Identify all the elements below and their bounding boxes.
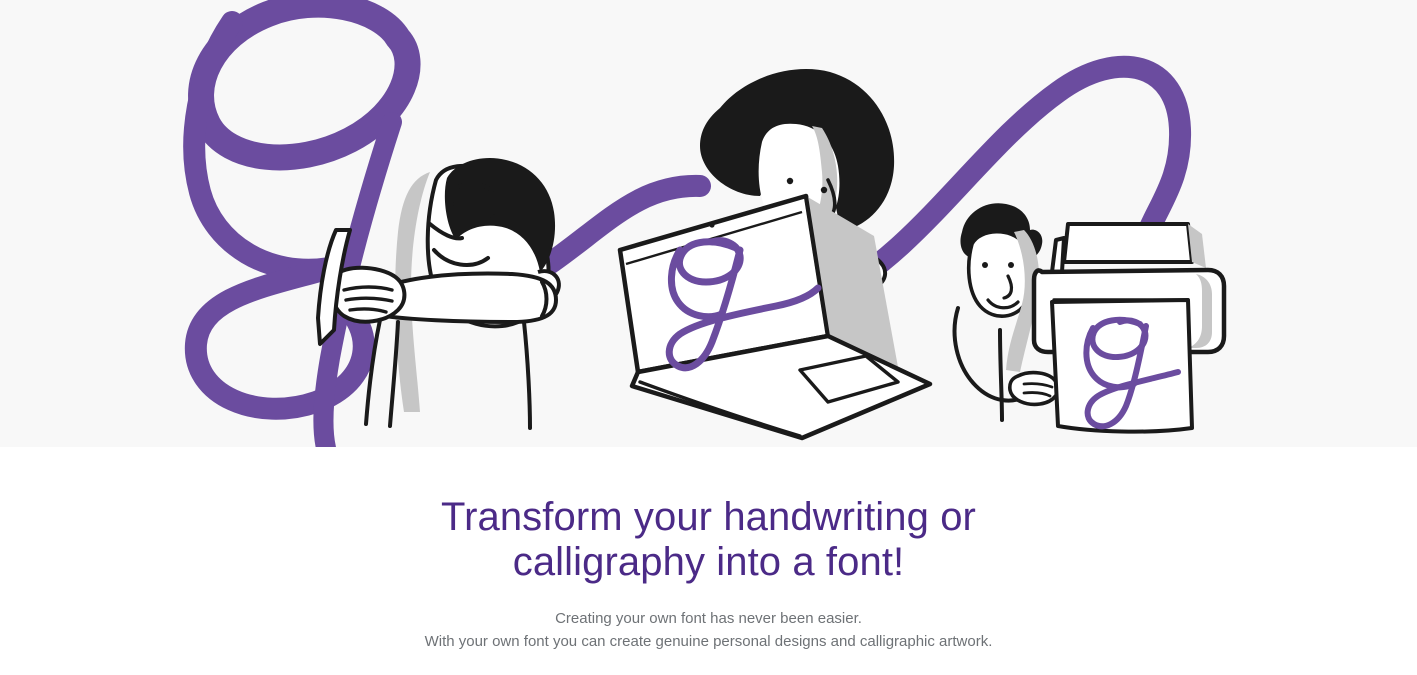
landing-page: Three people turning handwriting into a … <box>0 0 1417 675</box>
woman-eye-left <box>787 178 793 184</box>
headline-line-2: calligraphy into a font! <box>0 540 1417 585</box>
handwriting-to-font-illustration: Three people turning handwriting into a … <box>0 0 1417 447</box>
headline-line-1: Transform your handwriting or <box>0 495 1417 540</box>
printer-person-eye-left <box>982 262 988 268</box>
writer-hand <box>332 268 404 322</box>
woman-eye-right <box>821 187 827 193</box>
hero-copy: Transform your handwriting or calligraph… <box>0 447 1417 675</box>
printer-person-eye-right <box>1008 262 1014 268</box>
page-subtitle: Creating your own font has never been ea… <box>0 585 1417 654</box>
hero-illustration-band: Three people turning handwriting into a … <box>0 0 1417 447</box>
scene-printer-with-page <box>955 203 1224 431</box>
page-title: Transform your handwriting or calligraph… <box>0 447 1417 585</box>
printer-person-hand <box>1010 373 1058 405</box>
subtitle-line-2: With your own font you can create genuin… <box>0 630 1417 654</box>
printer-paper-tray <box>1064 224 1192 262</box>
writer-body-right <box>390 322 398 426</box>
subtitle-line-1: Creating your own font has never been ea… <box>0 607 1417 631</box>
laptop-webcam-icon <box>709 222 714 227</box>
giant-calligraphic-g-ribbon <box>194 5 407 447</box>
writer-eye-left <box>453 201 459 207</box>
printer-person-body <box>1000 330 1002 420</box>
writer-shoulder <box>524 322 530 428</box>
writer-eye-right <box>490 214 497 221</box>
printer-tray-side-left <box>1052 238 1064 272</box>
